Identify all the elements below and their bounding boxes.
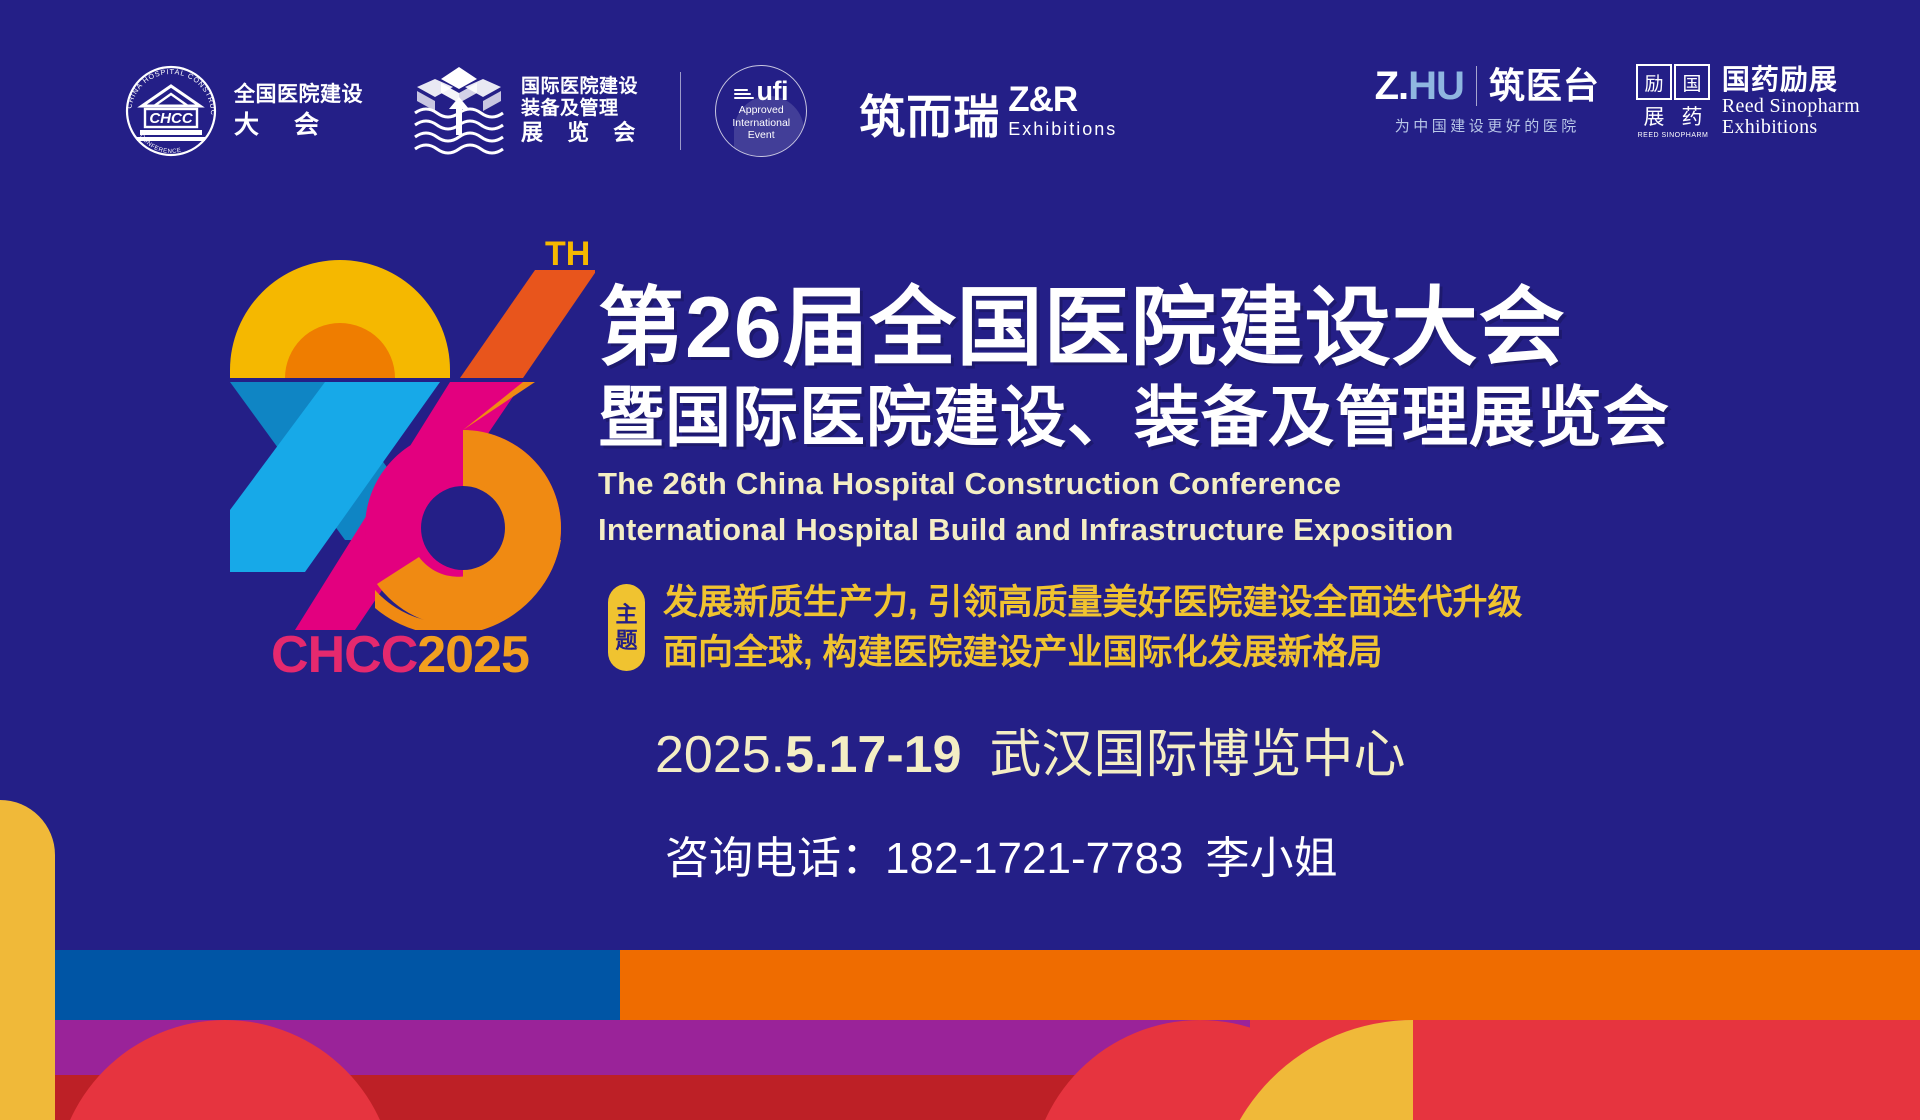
ufi-subtext: Approved International Event xyxy=(732,104,790,141)
theme-badge-char2: 题 xyxy=(615,628,637,653)
venue-name: 武汉国际博览中心 xyxy=(990,726,1406,784)
zr-exhibitions-logo: 筑而瑞 Z&R Exhibitions xyxy=(859,82,1117,140)
date-venue-line: 2025.5.17-19武汉国际博览中心 xyxy=(655,712,1406,787)
ufi-approved-icon: ufi Approved International Event xyxy=(715,65,807,157)
zr-logo-en-main: Z&R xyxy=(1008,82,1117,117)
title-block: 第26届全国医院建设大会 暨国际医院建设、装备及管理展览会 The 26th C… xyxy=(598,282,1670,549)
svg-text:CHCC: CHCC xyxy=(149,110,193,127)
header-left-logos: CHINA HOSPITAL CONSTRUCTION CONFERENCE C… xyxy=(118,60,1117,162)
poster-root: CHINA HOSPITAL CONSTRUCTION CONFERENCE C… xyxy=(0,0,1920,1120)
reed-sinopharm-seal-icon: 励 国 展 药 REED SINOPHARM xyxy=(1634,62,1712,140)
page-title-en-line1: The 26th China Hospital Construction Con… xyxy=(598,465,1670,503)
svg-text:励: 励 xyxy=(1644,73,1663,95)
theme-badge: 主 题 xyxy=(608,584,645,671)
chcc-label: 全国医院建设 大 会 xyxy=(234,84,363,138)
phone-label: 咨询电话： xyxy=(665,834,885,883)
phone-number: 182-1721-7783 xyxy=(885,834,1183,883)
date-range: 5.17-19 xyxy=(785,726,961,784)
reed-logo-en2: Exhibitions xyxy=(1722,117,1860,138)
page-title-en-line2: International Hospital Build and Infrast… xyxy=(598,511,1670,549)
zr-logo-cn: 筑而瑞 xyxy=(859,94,1000,140)
zhu-logo-row: Z. HU 筑医台 xyxy=(1375,66,1600,106)
page-title-cn-line1: 第26届全国医院建设大会 xyxy=(598,282,1670,375)
header-logo-strip: CHINA HOSPITAL CONSTRUCTION CONFERENCE C… xyxy=(0,0,1920,196)
reed-sinopharm-logo: 励 国 展 药 REED SINOPHARM 国药励展 Reed Sinopha… xyxy=(1634,62,1860,140)
date-year: 2025. xyxy=(655,726,785,784)
header-right-logos: Z. HU 筑医台 为中国建设更好的医院 励 国 展 药 RE xyxy=(1375,62,1860,140)
zhu-logo-tagline: 为中国建设更好的医院 xyxy=(1375,115,1600,136)
page-title-cn-line2: 暨国际医院建设、装备及管理展览会 xyxy=(598,377,1670,458)
ihb-label-line2: 装备及管理 xyxy=(521,98,644,119)
zhu-yitai-logo: Z. HU 筑医台 为中国建设更好的医院 xyxy=(1375,66,1600,136)
svg-text:CONFERENCE: CONFERENCE xyxy=(138,134,182,156)
ufi-subtext-line1: Approved xyxy=(732,104,790,116)
zhu-logo-z: Z. xyxy=(1375,66,1409,106)
zr-logo-en-sub: Exhibitions xyxy=(1008,120,1117,138)
contact-line: 咨询电话：182-1721-7783李小姐 xyxy=(665,822,1337,886)
ufi-word: ufi xyxy=(756,80,788,103)
zhu-logo-divider xyxy=(1476,66,1477,106)
decor-band-blue xyxy=(0,950,620,1020)
ihb-label: 国际医院建设 装备及管理 展 览 会 xyxy=(521,76,644,145)
theme-line1: 发展新质生产力, 引领高质量美好医院建设全面迭代升级 xyxy=(663,578,1522,628)
theme-block: 主 题 发展新质生产力, 引领高质量美好医院建设全面迭代升级 面向全球, 构建医… xyxy=(608,578,1522,677)
contact-name: 李小姐 xyxy=(1205,834,1337,883)
ihb-label-line1: 国际医院建设 xyxy=(521,76,644,97)
decor-arch-yellow xyxy=(0,800,55,1120)
header-divider xyxy=(680,72,681,150)
chcc-label-line2: 大 会 xyxy=(234,112,363,138)
chcc-label-line1: 全国医院建设 xyxy=(234,84,363,106)
ufi-wordmark: ufi xyxy=(734,80,788,103)
logo26-inner-hole xyxy=(421,486,505,570)
decor-band-orange xyxy=(620,950,1920,1020)
ihb-label-line3: 展 览 会 xyxy=(521,121,644,146)
reed-sinopharm-text: 国药励展 Reed Sinopharm Exhibitions xyxy=(1722,65,1860,138)
ufi-subtext-line2: International xyxy=(732,117,790,129)
chcc2025-wordmark: CHCC2025 xyxy=(205,625,595,685)
svg-text:REED SINOPHARM: REED SINOPHARM xyxy=(1638,132,1709,139)
reed-logo-cn: 国药励展 xyxy=(1722,65,1860,94)
zhu-logo-cn: 筑医台 xyxy=(1489,68,1600,104)
ufi-speed-lines-icon xyxy=(734,89,754,103)
svg-text:国: 国 xyxy=(1682,74,1701,95)
chcc-seal-icon: CHINA HOSPITAL CONSTRUCTION CONFERENCE C… xyxy=(118,60,224,162)
layered-building-icon xyxy=(407,61,511,161)
chcc2025-year: 2025 xyxy=(417,626,529,684)
zhu-logo-hu: HU xyxy=(1408,66,1464,106)
ufi-subtext-line3: Event xyxy=(732,129,790,141)
zr-logo-en: Z&R Exhibitions xyxy=(1008,82,1117,140)
reed-logo-en1: Reed Sinopharm xyxy=(1722,96,1860,117)
logo-26-mark: TH xyxy=(205,210,595,630)
svg-text:药: 药 xyxy=(1681,105,1702,129)
logo26-orange-slash xyxy=(460,270,595,378)
theme-line2: 面向全球, 构建医院建设产业国际化发展新格局 xyxy=(663,628,1522,678)
theme-badge-char1: 主 xyxy=(615,602,637,627)
logo26-superscript: TH xyxy=(545,235,590,273)
theme-text: 发展新质生产力, 引领高质量美好医院建设全面迭代升级 面向全球, 构建医院建设产… xyxy=(663,578,1522,677)
svg-text:展: 展 xyxy=(1643,105,1664,129)
chcc2025-cc: CHCC xyxy=(271,626,417,684)
